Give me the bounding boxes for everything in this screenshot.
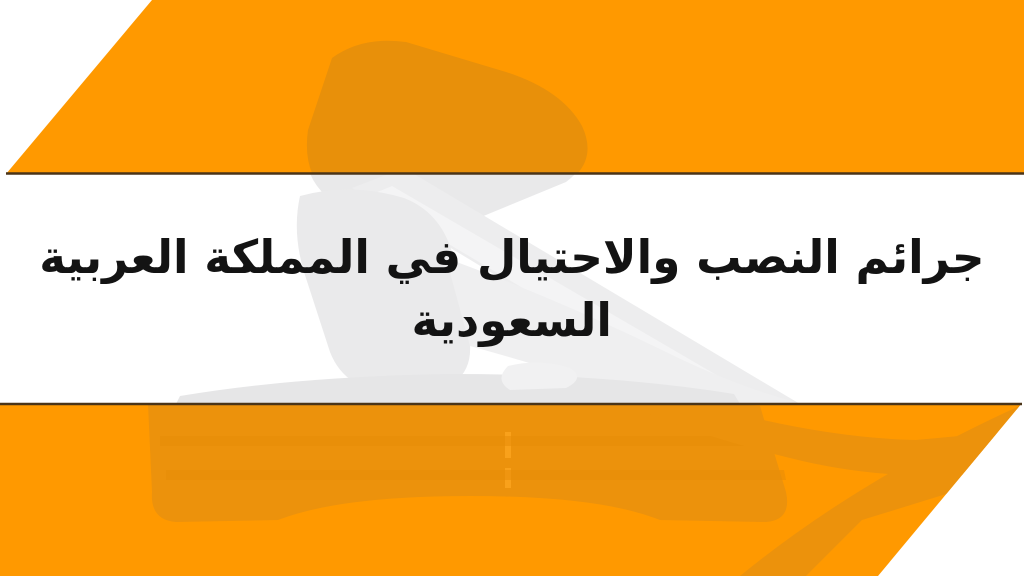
title-line-2: السعودية [412, 289, 612, 352]
title-line-1: جرائم النصب والاحتيال في المملكة العربية [39, 226, 984, 289]
forearm-silhouette-bottom [640, 404, 1024, 476]
title-card: جرائم النصب والاحتيال في المملكة العربية… [0, 0, 1024, 576]
top-banner-fill [6, 0, 1024, 174]
sound-block-seam-2 [505, 468, 511, 488]
forearm-silhouette-bottom-2 [740, 404, 1024, 576]
sound-block-band-1 [160, 436, 782, 446]
sound-block-silhouette [148, 396, 787, 522]
page-title: جرائم النصب والاحتيال في المملكة العربية… [0, 176, 1024, 402]
sound-block-band-2 [166, 470, 786, 480]
bottom-orange-banner [0, 396, 1024, 576]
bottom-banner-fill [0, 403, 1022, 576]
sound-block-seam-1 [505, 432, 511, 458]
